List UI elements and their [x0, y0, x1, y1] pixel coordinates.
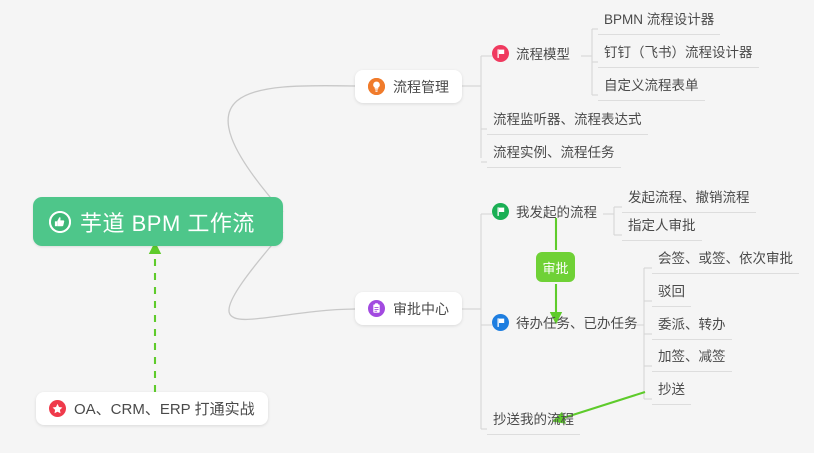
branch-label-approval-center: 审批中心 — [393, 299, 449, 319]
thumbs-up-icon — [49, 211, 71, 233]
leaf-cc[interactable]: 抄送 — [652, 381, 691, 405]
node-process-model[interactable]: 流程模型 — [492, 42, 570, 64]
root-label: 芋道 BPM 工作流 — [80, 206, 255, 238]
node-my-started-processes[interactable]: 我发起的流程 — [492, 200, 597, 222]
root-node[interactable]: 芋道 BPM 工作流 — [33, 197, 283, 246]
leaf-custom-form[interactable]: 自定义流程表单 — [598, 77, 705, 101]
leaf-dingtalk-designer[interactable]: 钉钉（飞书）流程设计器 — [598, 44, 759, 68]
node-label-process-model: 流程模型 — [516, 43, 570, 63]
clipboard-icon — [368, 300, 385, 317]
flag-icon — [492, 203, 509, 220]
approval-tag-label: 审批 — [542, 258, 568, 277]
leaf-start-cancel-process[interactable]: 发起流程、撤销流程 — [622, 189, 756, 213]
leaf-process-listener[interactable]: 流程监听器、流程表达式 — [487, 111, 648, 135]
approval-tag: 审批 — [536, 252, 575, 282]
leaf-reject[interactable]: 驳回 — [652, 283, 691, 307]
star-icon — [49, 400, 66, 417]
node-label-todo-done-tasks: 待办任务、已办任务 — [516, 312, 638, 332]
bottom-node-label: OA、CRM、ERP 打通实战 — [74, 398, 255, 419]
leaf-process-instance[interactable]: 流程实例、流程任务 — [487, 144, 621, 168]
node-label-my-started-processes: 我发起的流程 — [516, 201, 597, 221]
flag-icon — [492, 45, 509, 62]
branch-label-process-management: 流程管理 — [393, 77, 449, 97]
mindmap-canvas: 芋道 BPM 工作流 流程管理 流程模型 BPMN 流程设计器 钉钉（飞书）流程… — [0, 0, 814, 453]
lightbulb-icon — [368, 78, 385, 95]
leaf-bpmn-designer[interactable]: BPMN 流程设计器 — [598, 11, 720, 35]
leaf-add-remove-sign[interactable]: 加签、减签 — [652, 348, 732, 372]
flag-icon — [492, 314, 509, 331]
node-todo-done-tasks[interactable]: 待办任务、已办任务 — [492, 311, 638, 333]
leaf-countersign[interactable]: 会签、或签、依次审批 — [652, 250, 799, 274]
leaf-cc-to-me-processes[interactable]: 抄送我的流程 — [487, 411, 580, 435]
branch-node-approval-center[interactable]: 审批中心 — [355, 292, 462, 325]
leaf-assignee-approval[interactable]: 指定人审批 — [622, 217, 702, 241]
branch-node-process-management[interactable]: 流程管理 — [355, 70, 462, 103]
leaf-delegate-transfer[interactable]: 委派、转办 — [652, 316, 732, 340]
bottom-node-oa-crm-erp[interactable]: OA、CRM、ERP 打通实战 — [36, 392, 268, 425]
link-root-to-process-mgmt — [228, 86, 355, 212]
